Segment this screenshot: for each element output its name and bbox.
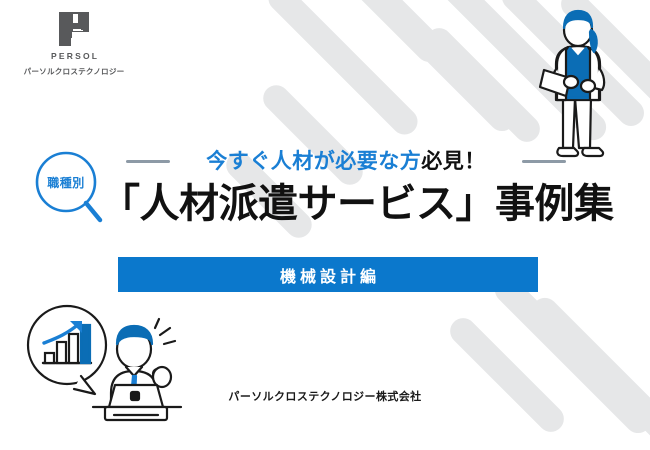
woman-with-clipboard-graphic <box>528 8 636 168</box>
persol-logo-mark <box>57 10 91 48</box>
page-title: 「人材派遣サービス」事例集 <box>100 182 600 226</box>
motion-lines <box>155 319 175 344</box>
kicker-black-text: 必見！ <box>421 150 486 173</box>
persol-logo: PERSOL パーソルクロステクノロジー <box>14 10 134 77</box>
rule-left <box>126 160 170 163</box>
background-stripe <box>354 0 521 136</box>
illustration-woman-with-clipboard <box>528 8 636 168</box>
background-stripe <box>445 313 569 437</box>
kicker-text: 今すぐ人材が必要な方必見！ <box>184 151 508 172</box>
subtitle-banner: 機械設計編 <box>118 257 538 292</box>
man-at-laptop-graphic <box>18 297 198 425</box>
background-stripe <box>323 0 447 67</box>
company-name: パーソルクロステクノロジー株式会社 <box>0 388 650 404</box>
poster-canvas: PERSOL パーソルクロステクノロジー 職種別 今すぐ人材が必要な方必見！ 「… <box>0 0 650 450</box>
background-stripe <box>526 292 650 450</box>
subtitle-banner-text: 機械設計編 <box>276 263 380 287</box>
kicker-row: 今すぐ人材が必要な方必見！ <box>126 148 566 174</box>
background-stripe <box>421 23 545 147</box>
background-stripe <box>263 0 423 140</box>
badge-label: 職種別 <box>30 174 102 191</box>
illustration-man-at-laptop <box>18 297 198 425</box>
persol-subtitle: パーソルクロステクノロジー <box>14 66 134 77</box>
background-stripe <box>490 272 650 439</box>
kicker-blue-text: 今すぐ人材が必要な方 <box>206 150 421 173</box>
persol-wordmark: PERSOL <box>14 51 134 61</box>
